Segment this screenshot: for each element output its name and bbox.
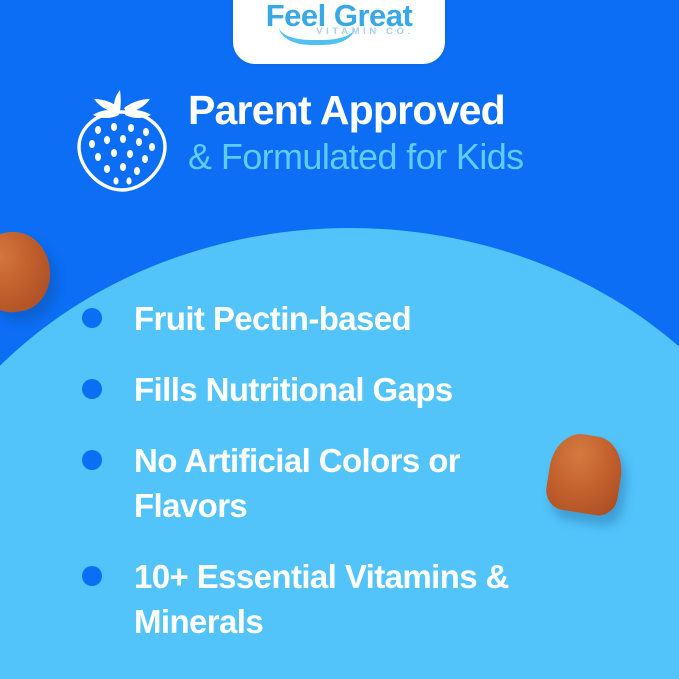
feature-label: Fruit Pectin-based	[134, 296, 411, 341]
list-item: 10+ Essential Vitamins & Minerals	[82, 554, 602, 644]
bullet-dot-icon	[82, 566, 102, 586]
gummy-vitamin-icon-left	[0, 227, 55, 317]
headline-block: Parent Approved & Formulated for Kids	[188, 86, 658, 180]
list-item: Fills Nutritional Gaps	[82, 367, 602, 412]
headline-primary: Parent Approved	[188, 86, 658, 134]
bullet-dot-icon	[82, 308, 102, 328]
brand-logo-card: Feel Great VITAMIN CO.	[233, 0, 445, 64]
brand-tagline: VITAMIN CO.	[233, 26, 445, 38]
promo-banner: Feel Great VITAMIN CO.	[0, 0, 679, 679]
feature-list: Fruit Pectin-based Fills Nutritional Gap…	[82, 296, 602, 670]
bullet-dot-icon	[82, 450, 102, 470]
feature-label: Fills Nutritional Gaps	[134, 367, 453, 412]
feature-label: 10+ Essential Vitamins & Minerals	[134, 554, 574, 644]
bullet-dot-icon	[82, 379, 102, 399]
strawberry-outline-icon	[68, 84, 176, 194]
brand-logo-inner: Feel Great VITAMIN CO.	[233, 0, 445, 64]
feature-label: No Artificial Colors or Flavors	[134, 438, 574, 528]
headline-secondary: & Formulated for Kids	[188, 134, 658, 180]
list-item: No Artificial Colors or Flavors	[82, 438, 602, 528]
list-item: Fruit Pectin-based	[82, 296, 602, 341]
